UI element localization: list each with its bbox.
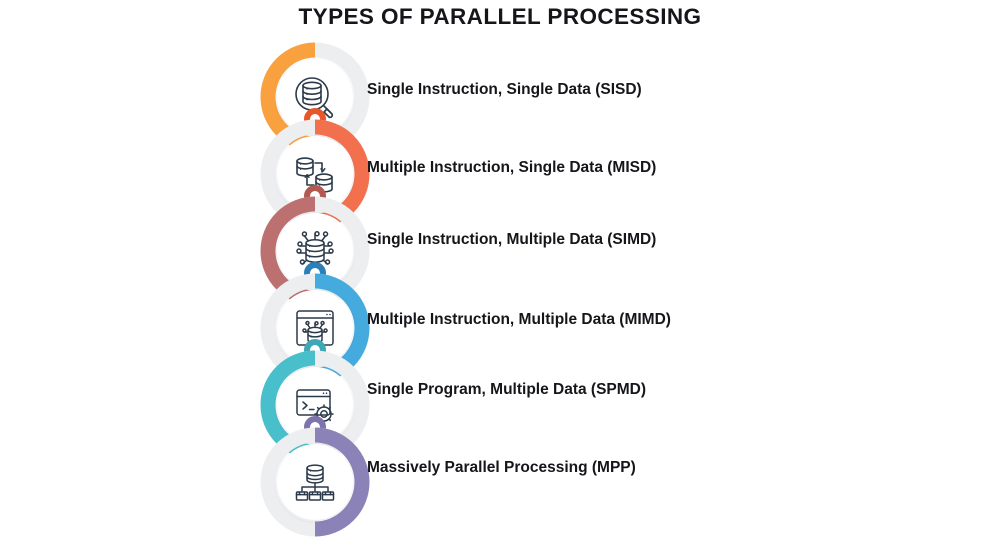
page-title: TYPES OF PARALLEL PROCESSING	[0, 4, 1000, 30]
item-label-1: Single Instruction, Single Data (SISD)	[367, 81, 642, 99]
chain-node-6[interactable]	[260, 427, 370, 537]
item-label-5: Single Program, Multiple Data (SPMD)	[367, 381, 646, 399]
infographic-root: TYPES OF PARALLEL PROCESSING	[0, 0, 1000, 515]
process-chain	[260, 42, 370, 512]
item-label-6: Massively Parallel Processing (MPP)	[367, 459, 636, 477]
database-servers-tree-icon	[277, 444, 353, 520]
item-label-3: Single Instruction, Multiple Data (SIMD)	[367, 231, 656, 249]
item-label-4: Multiple Instruction, Multiple Data (MIM…	[367, 311, 671, 329]
item-label-2: Multiple Instruction, Single Data (MISD)	[367, 159, 656, 177]
